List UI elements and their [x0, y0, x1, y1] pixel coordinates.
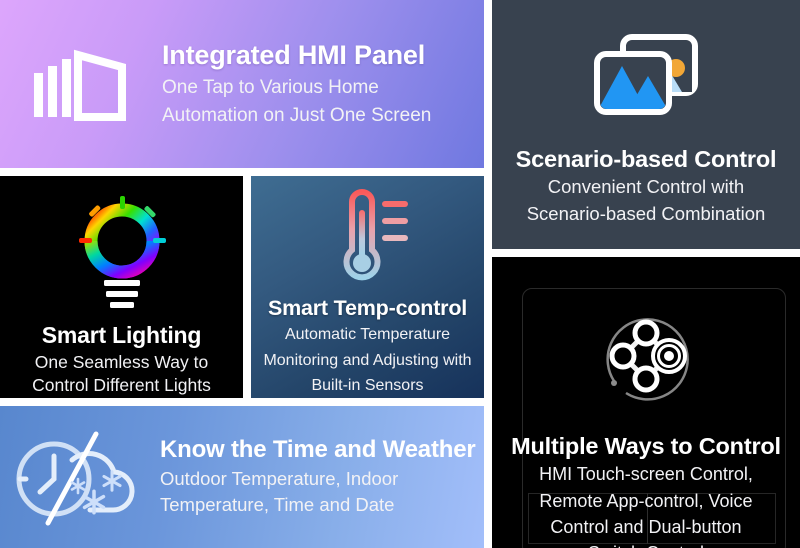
lighting-title: Smart Lighting: [42, 323, 201, 349]
hmi-subtitle-line2: Automation on Just One Screen: [162, 105, 431, 127]
multiple-subtitle-line3: Control and Dual-button: [550, 516, 741, 538]
weather-text-block: Know the Time and Weather Outdoor Temper…: [160, 437, 476, 517]
scenario-subtitle-line2: Scenario-based Combination: [527, 203, 766, 226]
temp-title: Smart Temp-control: [268, 296, 467, 320]
hmi-panel-icon-wrap: [0, 47, 160, 121]
multiple-subtitle-line1: HMI Touch-screen Control,: [539, 463, 753, 485]
weather-subtitle-line1: Outdoor Temperature, Indoor: [160, 468, 476, 491]
temp-subtitle-line1: Automatic Temperature: [285, 325, 450, 345]
temp-subtitle-line2: Monitoring and Adjusting with: [263, 351, 471, 371]
temp-subtitle-line3: Built-in Sensors: [311, 376, 423, 396]
hmi-text-block: Integrated HMI Panel One Tap to Various …: [160, 40, 431, 127]
lighting-subtitle-line2: Control Different Lights: [32, 375, 211, 396]
panel-integrated-hmi[interactable]: Integrated HMI Panel One Tap to Various …: [0, 0, 484, 168]
thermometer-icon: [322, 188, 414, 288]
panel-smart-temp-control[interactable]: Smart Temp-control Automatic Temperature…: [251, 176, 484, 398]
hmi-title: Integrated HMI Panel: [162, 40, 431, 70]
weather-title: Know the Time and Weather: [160, 437, 476, 464]
feature-grid: Integrated HMI Panel One Tap to Various …: [0, 0, 800, 548]
multiple-subtitle-line4: Switch Control: [588, 542, 704, 548]
panel-time-and-weather[interactable]: Know the Time and Weather Outdoor Temper…: [0, 406, 484, 548]
network-hub-icon: [590, 303, 702, 415]
rainbow-bulb-icon: [57, 192, 187, 317]
photo-stack-icon: [590, 32, 702, 124]
hmi-panel-icon: [32, 47, 128, 121]
weather-subtitle-line2: Temperature, Time and Date: [160, 494, 476, 517]
panel-multiple-ways-to-control[interactable]: Multiple Ways to Control HMI Touch-scree…: [492, 257, 800, 548]
weather-icon-wrap: [0, 426, 160, 528]
lighting-subtitle-line1: One Seamless Way to: [35, 352, 208, 373]
scenario-subtitle-line1: Convenient Control with: [548, 176, 744, 199]
multiple-subtitle-line2: Remote App-control, Voice: [539, 490, 752, 512]
panel-scenario-based-control[interactable]: Scenario-based Control Convenient Contro…: [492, 0, 800, 249]
multiple-title: Multiple Ways to Control: [511, 433, 781, 459]
clock-cloud-snow-icon: [12, 426, 148, 528]
hmi-subtitle-line1: One Tap to Various Home: [162, 77, 431, 99]
panel-smart-lighting[interactable]: Smart Lighting One Seamless Way to Contr…: [0, 176, 243, 398]
scenario-title: Scenario-based Control: [516, 146, 777, 172]
